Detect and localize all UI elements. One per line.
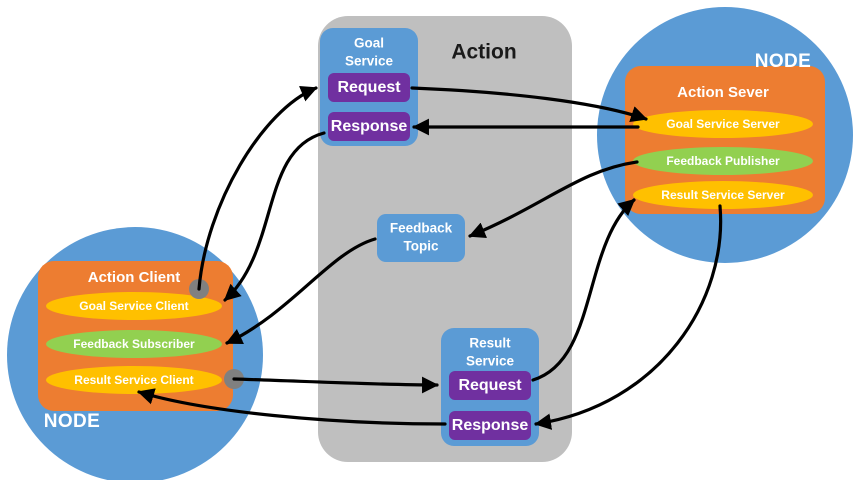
edge-result-request-to-result-server — [533, 200, 634, 380]
edge-result-response-to-result-client — [139, 392, 445, 424]
edge-goal-response-to-goal-client — [225, 133, 324, 300]
edge-result-server-to-result-response — [536, 206, 721, 424]
arrow-layer — [0, 0, 854, 480]
edge-feedback-publisher-to-topic — [470, 162, 637, 236]
edge-goal-request-to-goal-server — [412, 88, 646, 119]
diagram-canvas: Action NODE Action Client Goal Service C… — [0, 0, 854, 480]
edge-result-client-to-result-request — [234, 379, 437, 385]
edge-goal-client-to-goal-request — [199, 88, 316, 289]
edge-feedback-topic-to-subscriber — [227, 239, 375, 343]
